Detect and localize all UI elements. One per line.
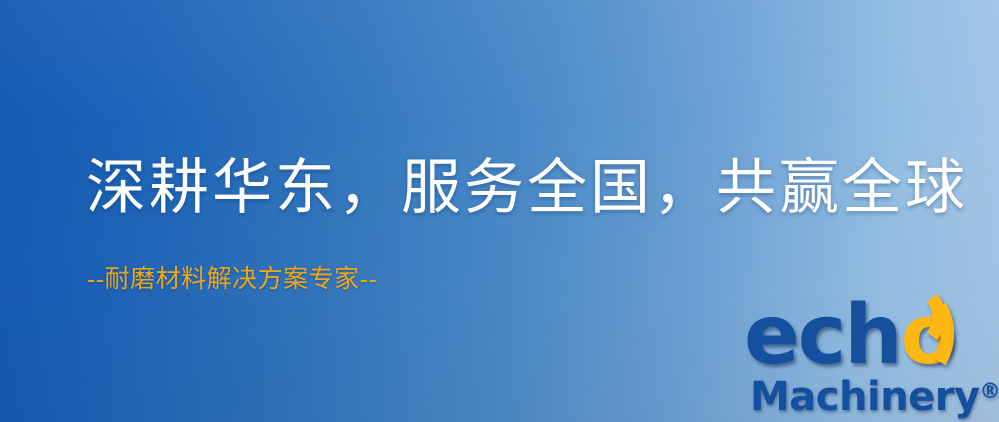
logo-tagline: Machinery® — [750, 374, 999, 420]
logo-wordmark-blue: ech — [744, 288, 901, 383]
logo-tagline-text: Machinery — [750, 374, 980, 420]
logo-wordmark: echo — [744, 296, 955, 376]
banner-subtitle: --耐磨材料解决方案专家-- — [87, 266, 377, 294]
banner-headline: 深耕华东，服务全国，共赢全球 — [86, 157, 968, 220]
registered-trademark-icon: ® — [980, 379, 999, 403]
company-logo[interactable]: echo Machinery® — [744, 296, 996, 418]
signal-waves-icon — [926, 292, 998, 368]
hero-banner: 深耕华东，服务全国，共赢全球 --耐磨材料解决方案专家-- echo Machi… — [0, 0, 999, 422]
